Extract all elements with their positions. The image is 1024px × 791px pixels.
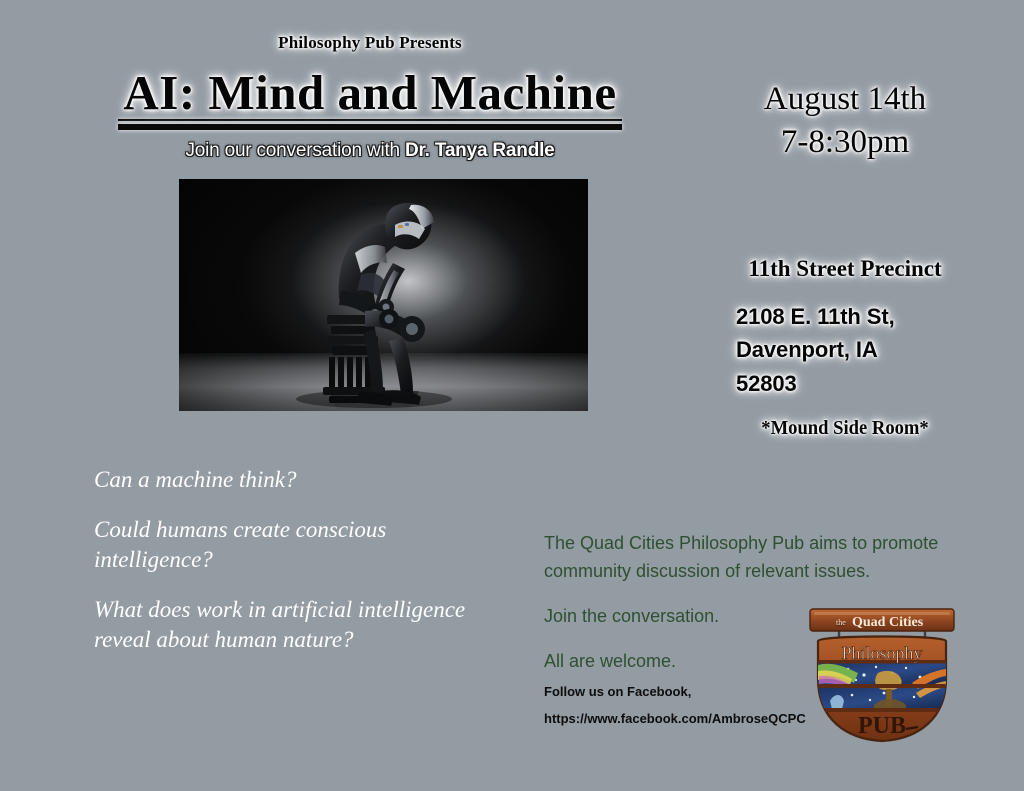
question-1: Can a machine think? (94, 465, 494, 495)
event-date: August 14th (700, 78, 990, 121)
photo-vignette (179, 179, 588, 411)
venue-room: *Mound Side Room* (710, 417, 980, 440)
logo-mid-text: Philosophy (841, 643, 922, 663)
speaker-name: Dr. Tanya Randle (405, 140, 555, 161)
presenter-line: Philosophy Pub Presents (0, 33, 740, 53)
venue-address: 2108 E. 11th St, Davenport, IA 52803 (736, 300, 1016, 400)
logo-bottom-text: PUB (858, 713, 906, 739)
address-line-1: 2108 E. 11th St, (736, 300, 1016, 333)
facebook-url[interactable]: https://www.facebook.com/AmbroseQCPC (544, 706, 844, 733)
question-3: What does work in artificial intelligenc… (94, 595, 494, 655)
discussion-questions: Can a machine think? Could humans create… (94, 465, 494, 654)
facebook-label: Follow us on Facebook, (544, 679, 844, 706)
address-line-3: 52803 (736, 367, 1016, 400)
speaker-line-lead: Join our conversation with (185, 140, 405, 161)
event-date-time: August 14th 7-8:30pm (700, 78, 990, 164)
logo-top-small: the (836, 618, 846, 627)
blurb-paragraph-1: The Quad Cities Philosophy Pub aims to p… (544, 530, 992, 586)
logo-sky-panels (818, 660, 946, 712)
venue-name: 11th Street Precinct (700, 256, 990, 282)
event-time: 7-8:30pm (700, 121, 990, 164)
event-poster: Philosophy Pub Presents AI: Mind and Mac… (0, 0, 1024, 791)
question-2: Could humans create conscious intelligen… (94, 515, 494, 575)
poster-title-block: AI: Mind and Machine (0, 68, 740, 130)
speaker-line: Join our conversation with Dr. Tanya Ran… (0, 140, 740, 162)
logo-top-text: Quad Cities (852, 615, 924, 630)
facebook-contact: Follow us on Facebook, https://www.faceb… (544, 679, 844, 732)
philosophy-pub-logo: the Quad Cities (806, 607, 958, 743)
title-underline-thick (118, 124, 622, 130)
page-title: AI: Mind and Machine (123, 68, 616, 118)
address-line-2: Davenport, IA (736, 333, 1016, 366)
thinking-robot-photo (179, 179, 588, 411)
